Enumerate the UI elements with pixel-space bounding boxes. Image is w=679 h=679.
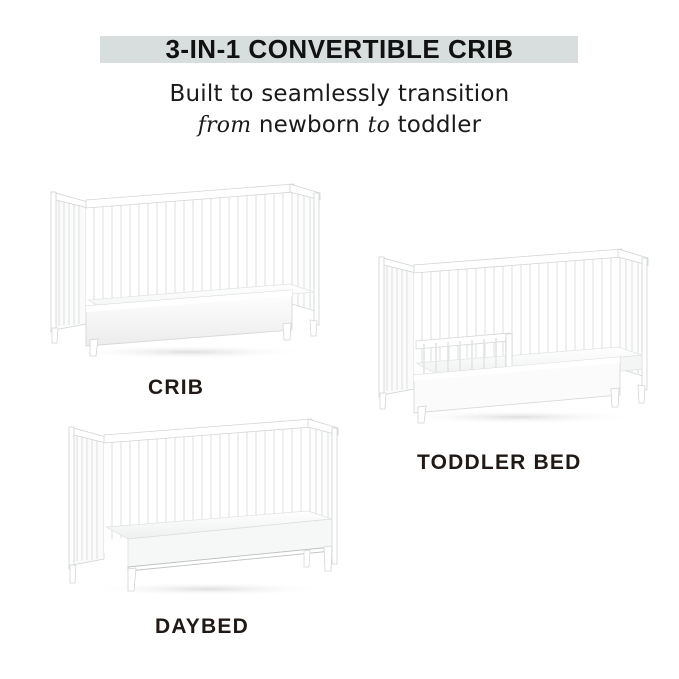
page-title: 3-IN-1 CONVERTIBLE CRIB [0, 30, 679, 68]
product-image-crib [40, 180, 330, 365]
subtitle-line-2: from newborn to toddler [0, 110, 679, 141]
infographic-canvas: 3-IN-1 CONVERTIBLE CRIB Built to seamles… [0, 0, 679, 679]
subtitle-word-from: from [198, 113, 252, 138]
subtitle-block: Built to seamlessly transition from newb… [0, 80, 679, 141]
product-label-crib: CRIB [148, 376, 204, 400]
page-title-block: 3-IN-1 CONVERTIBLE CRIB [0, 30, 679, 68]
product-image-daybed [58, 415, 348, 600]
subtitle-word-toddler: toddler [398, 112, 482, 138]
product-label-daybed: DAYBED [155, 615, 249, 639]
subtitle-line-1: Built to seamlessly transition [0, 80, 679, 108]
subtitle-word-newborn: newborn [259, 112, 360, 138]
subtitle-word-to: to [368, 113, 391, 138]
product-label-toddler-bed: TODDLER BED [417, 451, 582, 475]
product-image-toddler-bed [368, 245, 658, 430]
